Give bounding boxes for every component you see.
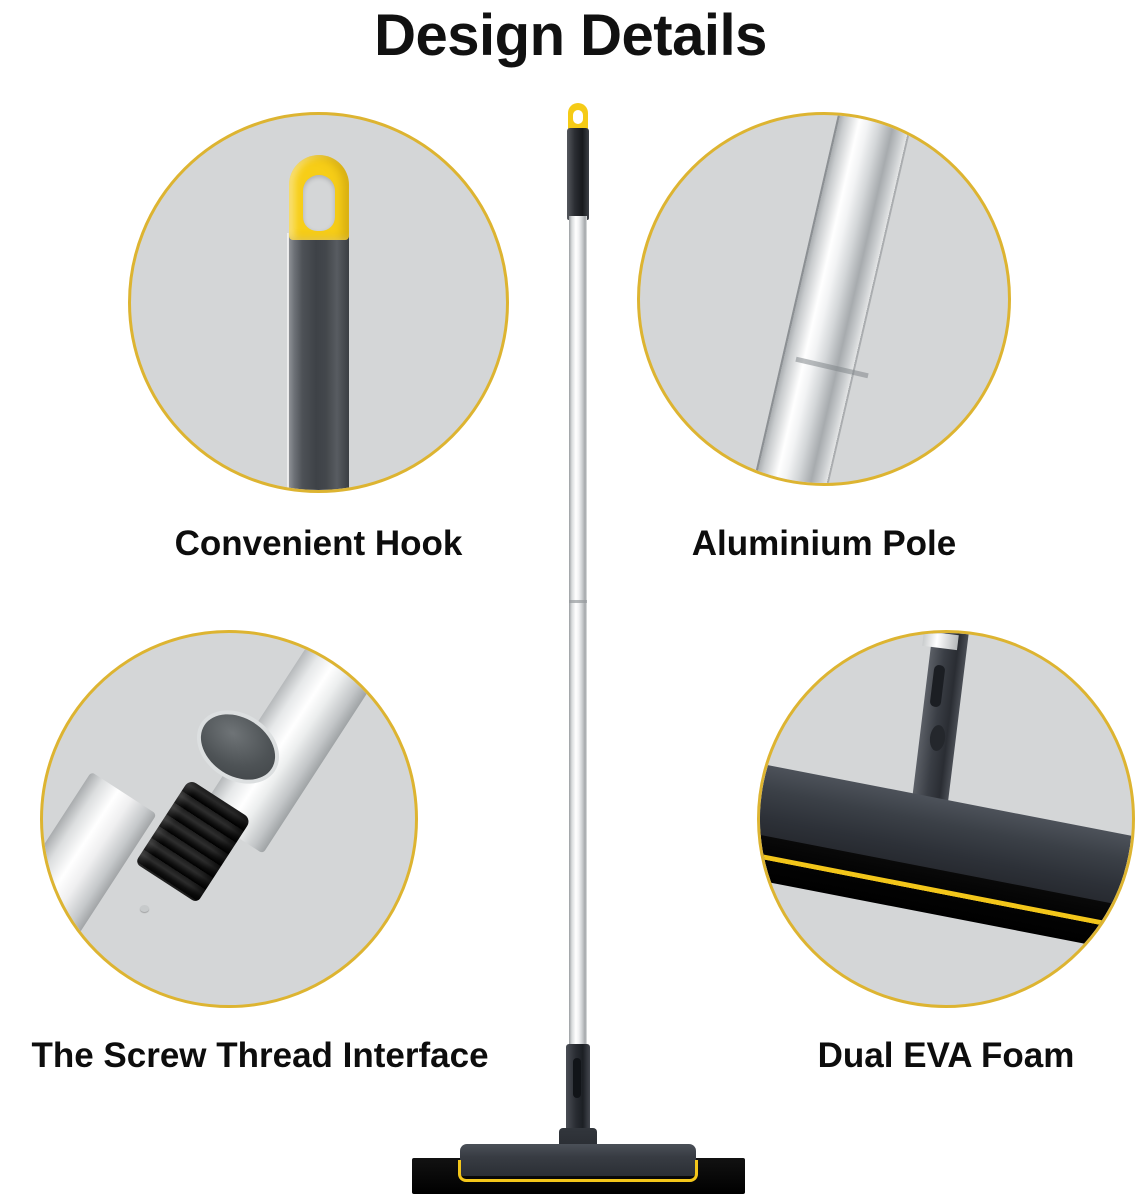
handle-grip-icon [289, 233, 349, 490]
squeegee-neck-icon [911, 633, 969, 814]
product-yellow-trim-icon [458, 1160, 698, 1182]
callout-label-convenient-hook: Convenient Hook [128, 524, 509, 564]
eva-foam-detail-illustration [760, 633, 1132, 1005]
callout-circle-convenient-hook [128, 112, 509, 493]
callout-label-screw-thread-interface: The Screw Thread Interface [0, 1036, 520, 1076]
product-head-mount-icon [559, 1128, 597, 1156]
hook-hole-icon [303, 175, 335, 231]
product-head-body-icon [460, 1144, 696, 1176]
product-hook-hole-icon [573, 110, 583, 124]
tube-rivet-icon [140, 905, 149, 912]
page-title: Design Details [0, 2, 1141, 69]
callout-label-aluminium-pole: Aluminium Pole [637, 524, 1011, 564]
product-pole-seam-icon [569, 600, 587, 603]
pole-detail-illustration [640, 115, 1008, 483]
lower-tube-icon [43, 772, 157, 1005]
pole-edge-shading-icon [737, 115, 926, 483]
callout-circle-dual-eva-foam [757, 630, 1135, 1008]
callout-label-dual-eva-foam: Dual EVA Foam [757, 1036, 1135, 1076]
product-neck-slot-icon [573, 1058, 581, 1098]
product-foam-blade-icon [412, 1158, 745, 1194]
product-hook-icon [568, 103, 588, 131]
screw-thread-detail-illustration [43, 633, 415, 1005]
design-details-infographic: Design Details Convenient Hook Aluminium… [0, 0, 1141, 1200]
product-grip-icon [567, 128, 589, 220]
product-pole-icon [569, 216, 587, 1044]
callout-circle-aluminium-pole [637, 112, 1011, 486]
hook-detail-illustration [131, 115, 506, 490]
product-lower-neck-icon [566, 1044, 590, 1132]
callout-circle-screw-thread-interface [40, 630, 418, 1008]
neck-ferrule-icon [922, 633, 959, 650]
